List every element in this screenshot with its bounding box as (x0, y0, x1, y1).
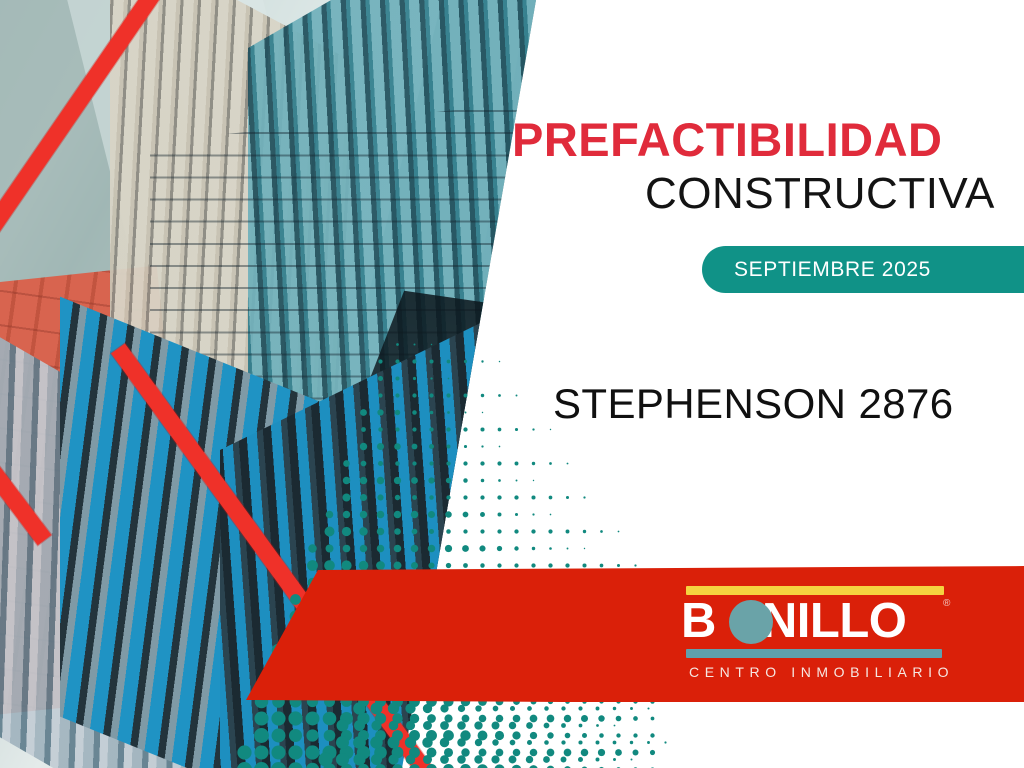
presentation-slide: PREFACTIBILIDAD CONSTRUCTIVA SEPTIEMBRE … (0, 0, 1024, 768)
logo-wordmark-nillo: NILLO (762, 594, 906, 648)
logo-tagline: CENTRO INMOBILIARIO (689, 664, 954, 680)
logo-circle-icon (729, 600, 773, 644)
property-address: STEPHENSON 2876 (553, 383, 954, 425)
date-badge-label: SEPTIEMBRE 2025 (734, 258, 931, 282)
page-title-secondary: CONSTRUCTIVA (645, 172, 995, 216)
logo-wordmark-b: B (681, 594, 716, 648)
halftone-dot-pattern-bottom (300, 700, 700, 768)
logo-teal-bar (686, 649, 942, 658)
page-title-primary: PREFACTIBILIDAD (512, 116, 943, 163)
logo-wordmark: BNILLO (681, 596, 953, 646)
date-badge: SEPTIEMBRE 2025 (702, 246, 1024, 293)
bonillo-logo: BNILLO ® CENTRO INMOBILIARIO (681, 586, 953, 686)
registered-trademark-icon: ® (943, 598, 950, 609)
